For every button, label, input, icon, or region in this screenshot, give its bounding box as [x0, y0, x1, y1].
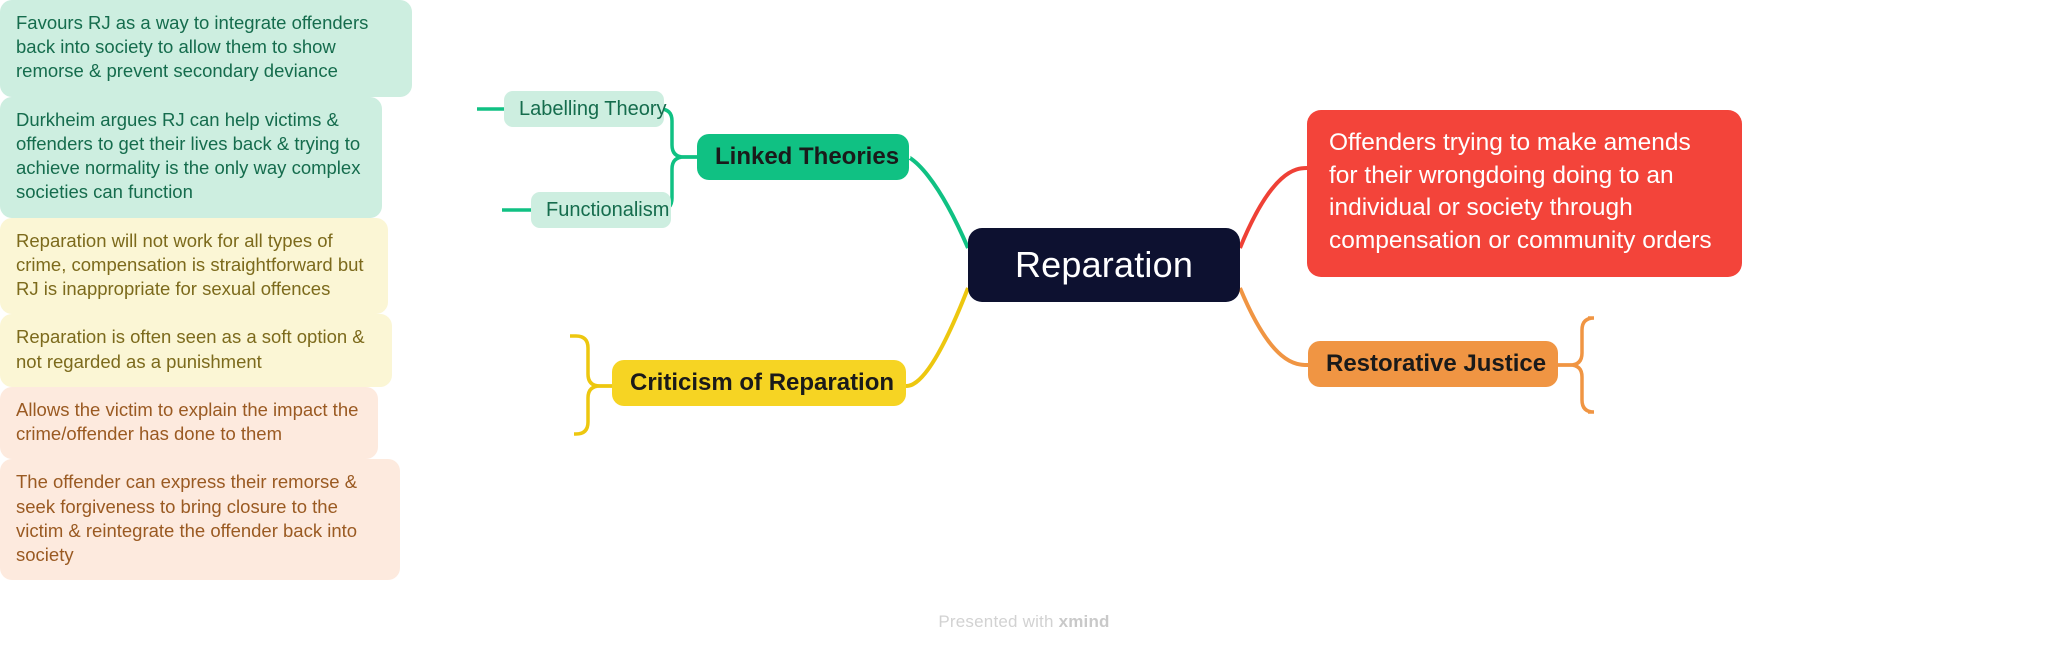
detail-labelling-theory-text: Favours RJ as a way to integrate offende…: [16, 12, 368, 81]
detail-restorative-1[interactable]: Allows the victim to explain the impact …: [0, 387, 378, 459]
subtopic-labelling-theory-label: Labelling Theory: [519, 98, 649, 121]
topic-reparation-definition[interactable]: Offenders trying to make amends for thei…: [1307, 110, 1742, 277]
topic-restorative-justice[interactable]: Restorative Justice: [1308, 341, 1558, 387]
subtopic-functionalism-label: Functionalism: [546, 199, 656, 222]
topic-linked-theories[interactable]: Linked Theories: [697, 134, 909, 180]
root-node-label: Reparation: [968, 244, 1240, 286]
footer-watermark: Presented with xmind: [0, 612, 2048, 632]
detail-restorative-2-text: The offender can express their remorse &…: [16, 471, 357, 565]
footer-prefix: Presented with: [938, 612, 1058, 631]
root-node-reparation[interactable]: Reparation: [968, 228, 1240, 302]
topic-restorative-justice-label: Restorative Justice: [1326, 350, 1540, 378]
topic-criticism-label: Criticism of Reparation: [630, 369, 888, 397]
topic-reparation-definition-text: Offenders trying to make amends for thei…: [1329, 127, 1720, 257]
detail-labelling-theory[interactable]: Favours RJ as a way to integrate offende…: [0, 0, 412, 97]
detail-restorative-2[interactable]: The offender can express their remorse &…: [0, 459, 400, 580]
mindmap-canvas[interactable]: Reparation Linked Theories Labelling The…: [0, 0, 2048, 654]
subtopic-functionalism[interactable]: Functionalism: [531, 192, 671, 228]
footer-brand: xmind: [1059, 612, 1110, 631]
detail-criticism-2[interactable]: Reparation is often seen as a soft optio…: [0, 314, 392, 386]
detail-functionalism[interactable]: Durkheim argues RJ can help victims & of…: [0, 97, 382, 218]
detail-criticism-1[interactable]: Reparation will not work for all types o…: [0, 218, 388, 315]
detail-functionalism-text: Durkheim argues RJ can help victims & of…: [16, 109, 360, 203]
topic-criticism-of-reparation[interactable]: Criticism of Reparation: [612, 360, 906, 406]
detail-restorative-1-text: Allows the victim to explain the impact …: [16, 399, 358, 444]
subtopic-labelling-theory[interactable]: Labelling Theory: [504, 91, 664, 127]
detail-criticism-2-text: Reparation is often seen as a soft optio…: [16, 326, 365, 371]
detail-criticism-1-text: Reparation will not work for all types o…: [16, 230, 364, 299]
topic-linked-theories-label: Linked Theories: [715, 143, 891, 171]
